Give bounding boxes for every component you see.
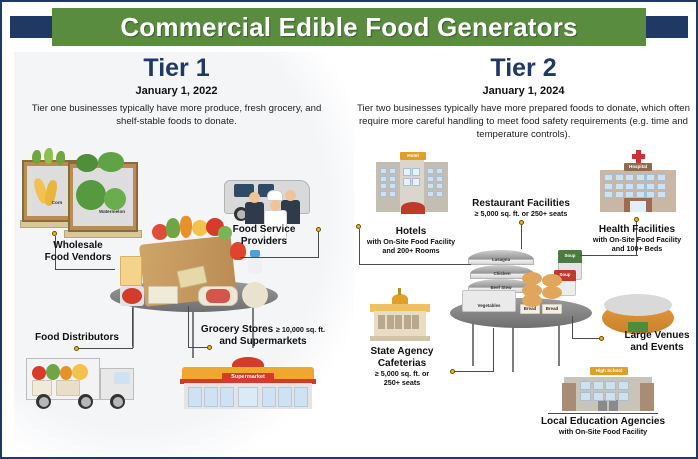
table-leg xyxy=(558,322,560,366)
table-leg xyxy=(512,326,514,372)
supermarket-window xyxy=(204,387,218,407)
supermarket-sign: Supermarket xyxy=(222,373,274,382)
tray-vegetables xyxy=(462,290,516,312)
tier-2-description: Tier two businesses typically have more … xyxy=(352,103,694,142)
high-school-sign: High School xyxy=(590,367,628,375)
leader-line-hotels xyxy=(359,264,471,265)
label-line-1: State Agency xyxy=(354,346,450,358)
label-line-2: and Events xyxy=(614,342,698,354)
callout-dot-restaurant xyxy=(519,220,524,225)
callout-dot-food-service xyxy=(316,227,321,232)
leader-line-health xyxy=(580,255,638,256)
health-facility-illustration: Hospital xyxy=(596,150,680,216)
hotel-awning xyxy=(401,202,425,214)
callout-dot-state-agency xyxy=(450,369,455,374)
chef-head xyxy=(270,200,281,211)
bread-package-label: Bread xyxy=(542,306,562,311)
label-local-education-agencies: Local Education Agencies with On-Site Fo… xyxy=(510,416,696,437)
truck-wheel xyxy=(78,394,93,409)
corn-leaf xyxy=(44,148,53,164)
label-line-1: Food Distributors xyxy=(16,332,138,344)
hotel-illustration: Hotel xyxy=(374,152,450,214)
supermarket-window xyxy=(262,387,276,407)
tomato-can-lid xyxy=(122,288,142,304)
supermarket-window xyxy=(294,387,308,407)
packaged-food xyxy=(148,286,178,304)
tray-lasagna-label: Lasagna xyxy=(478,257,524,262)
callout-dot-grocery xyxy=(207,345,212,350)
school-wing xyxy=(640,383,654,411)
cafeteria-columns xyxy=(378,315,422,329)
callout-dot-wholesale xyxy=(52,231,57,236)
tray-chicken-label: Chicken xyxy=(480,271,524,276)
corn-leaf xyxy=(56,151,65,165)
school-door xyxy=(598,400,607,411)
leader-line-state-agency xyxy=(454,371,494,372)
hotel-windows xyxy=(427,168,445,197)
school-door xyxy=(609,400,618,411)
capitol-dome xyxy=(392,294,408,304)
label-large-venues-and-events: Large Venues and Events xyxy=(614,330,698,354)
lettuce xyxy=(166,218,180,238)
stadium-rim xyxy=(604,294,672,316)
callout-dot-hotels xyxy=(356,224,361,229)
cheese-wheel xyxy=(242,282,268,308)
label-sub-1: ≥ 5,000 sq. ft. or 250+ seats xyxy=(457,210,585,219)
local-education-illustration: High School xyxy=(562,367,654,413)
supermarket-window xyxy=(188,387,202,407)
cafeteria-steps xyxy=(370,336,430,341)
label-food-service-providers: Food Service Providers xyxy=(214,224,314,248)
table-leg xyxy=(472,322,474,366)
truck-produce xyxy=(46,364,60,380)
hospital-windows xyxy=(604,174,672,198)
label-line-2: Providers xyxy=(214,236,314,248)
label-line-1: Food Service xyxy=(214,224,314,236)
supermarket-window xyxy=(278,387,292,407)
tier-2-date: January 1, 2024 xyxy=(349,85,698,97)
supermarket-illustration: Supermarket xyxy=(178,357,318,409)
truck-produce xyxy=(32,366,46,380)
carrot xyxy=(180,216,192,238)
hotel-windows xyxy=(380,168,398,197)
leader-line-wholesale xyxy=(55,269,115,270)
label-sub-2: and 100+ Beds xyxy=(582,245,692,254)
leader-line-state-agency xyxy=(493,328,494,372)
corn-leaf xyxy=(32,150,41,164)
soup-can-label: Soup xyxy=(558,253,582,258)
watermelon xyxy=(76,180,106,210)
callout-dot-health xyxy=(634,217,639,222)
bread-roll xyxy=(542,286,562,299)
label-line-1-qualifier: ≥ 10,000 sq. ft. xyxy=(276,325,325,334)
leader-line-large-venues xyxy=(572,316,573,339)
label-hotels: Hotels with On-Site Food Facility and 20… xyxy=(352,226,470,256)
label-health-facilities: Health Facilities with On-Site Food Faci… xyxy=(582,224,692,254)
tier-1-date: January 1, 2022 xyxy=(4,85,349,97)
label-sub-2: 250+ seats xyxy=(354,379,450,388)
truck-window xyxy=(114,372,130,384)
watermelon-top xyxy=(98,152,124,172)
page-title: Commercial Edible Food Generators xyxy=(52,8,646,46)
bread-package-label: Bread xyxy=(520,306,540,311)
callout-dot-distributors xyxy=(74,346,79,351)
crate-corn-label: Corn xyxy=(42,200,72,205)
watermelon xyxy=(104,188,126,210)
tier-1-heading: Tier 1 xyxy=(4,54,349,83)
truck-produce xyxy=(60,366,72,380)
truck-produce xyxy=(72,364,88,380)
leader-line-large-venues xyxy=(572,338,600,339)
label-wholesale-food-vendors: Wholesale Food Vendors xyxy=(22,240,134,264)
truck-box xyxy=(56,380,80,396)
staff-body xyxy=(245,202,264,224)
infographic-poster: Commercial Edible Food Generators Tier 1… xyxy=(0,0,698,459)
label-sub-2: and 200+ Rooms xyxy=(352,247,470,256)
hospital-door xyxy=(630,201,646,212)
supermarket-door xyxy=(238,387,258,407)
leader-line-education xyxy=(548,413,658,414)
label-state-agency-cafeterias: State Agency Cafeterias ≥ 5,000 sq. ft. … xyxy=(354,346,450,388)
label-food-distributors: Food Distributors xyxy=(16,332,138,344)
soup-can-label: Soup xyxy=(554,272,576,277)
hotel-sign: Hotel xyxy=(400,152,426,160)
school-windows xyxy=(580,381,636,401)
state-agency-illustration xyxy=(366,294,434,344)
leader-line-food-service xyxy=(240,257,319,258)
label-restaurant-facilities: Restaurant Facilities ≥ 5,000 sq. ft. or… xyxy=(457,198,585,219)
red-cross-icon xyxy=(632,154,645,159)
hospital-sign: Hospital xyxy=(624,163,652,171)
tray-vegetables-label: Vegetables xyxy=(466,303,512,308)
crate-watermelon-label: Watermelon xyxy=(90,209,134,214)
tier-1-description: Tier one businesses typically have more … xyxy=(25,103,329,129)
tray-beef-stew-label: Beef Stew xyxy=(478,285,524,290)
callout-dot-large-venues xyxy=(599,336,604,341)
label-line-1: Grocery Stores ≥ 10,000 sq. ft. xyxy=(188,324,338,336)
leader-line-distributors xyxy=(78,348,133,349)
leader-line-restaurant xyxy=(521,223,522,249)
supermarket-window xyxy=(220,387,234,407)
watermelon-top xyxy=(76,154,98,172)
label-line-1: Large Venues xyxy=(614,330,698,342)
label-sub-1: with On-Site Food Facility xyxy=(510,428,696,437)
label-line-1: Wholesale xyxy=(22,240,134,252)
label-line-2: Food Vendors xyxy=(22,252,134,264)
meat xyxy=(206,289,230,303)
staff-head xyxy=(285,190,296,201)
hotel-tower-windows xyxy=(403,168,421,186)
bottle-cap xyxy=(250,250,260,257)
school-wing xyxy=(562,383,576,411)
label-line-1-main: Grocery Stores xyxy=(201,324,273,335)
truck-wheel xyxy=(36,394,51,409)
staff-head xyxy=(249,192,260,203)
truck-wheel xyxy=(110,394,125,409)
dome-spire xyxy=(398,288,401,295)
leader-line-food-service xyxy=(318,232,319,258)
tier-2-heading: Tier 2 xyxy=(349,54,698,83)
